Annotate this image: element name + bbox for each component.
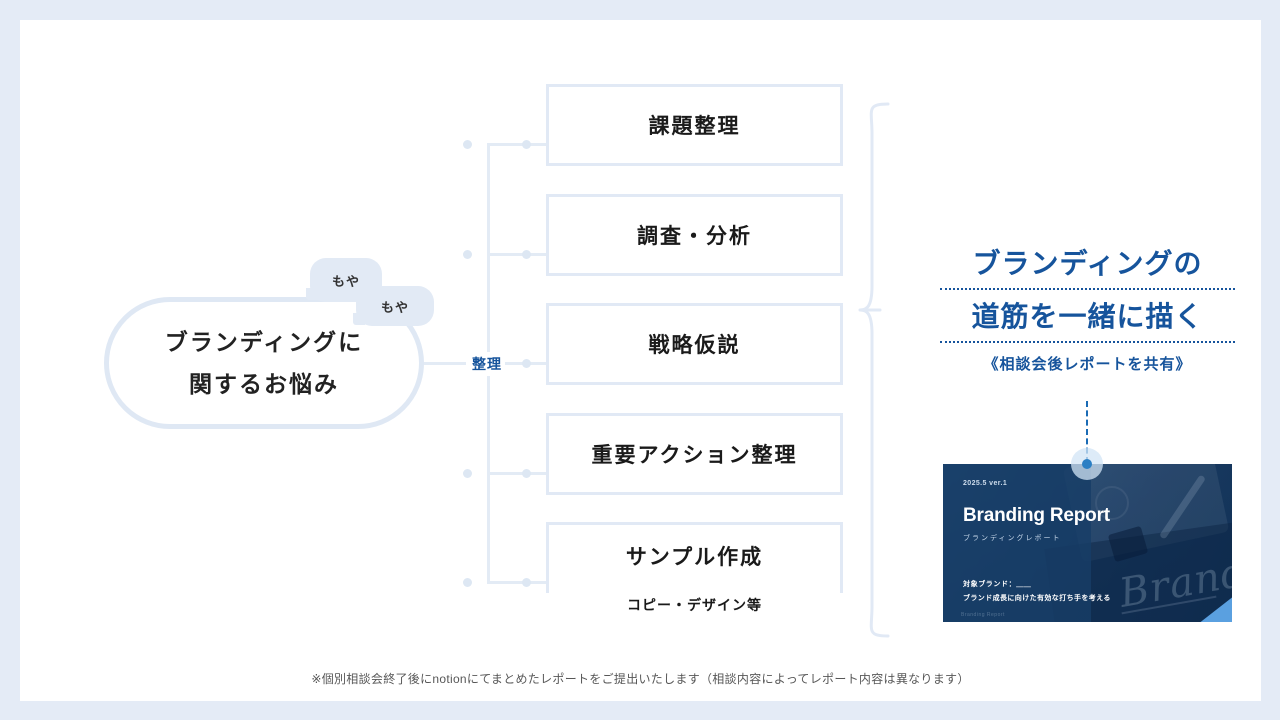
problem-line-1: ブランディングに (165, 321, 363, 363)
footnote-text: ※個別相談会終了後にnotionにてまとめたレポートをご提出いたします（相談内容… (20, 670, 1261, 687)
trunk-node-dot-1 (463, 140, 472, 149)
trunk-node-dot-2 (463, 250, 472, 259)
connector-label-seiri: 整理 (469, 352, 505, 376)
step-box-3-title: 戦略仮説 (649, 329, 741, 359)
step-box-5[interactable]: サンプル作成 (546, 522, 843, 604)
outcome-headline: ブランディングの 道筋を一緒に描く 《相談会後レポートを共有》 (940, 242, 1235, 374)
report-card-footer: Branding Report (961, 612, 1005, 618)
step-box-1-title: 課題整理 (649, 110, 741, 140)
moya-bubble-2-label: もや (381, 297, 409, 316)
box-node-dot-3 (522, 359, 531, 368)
problem-line-2: 関するお悩み (189, 363, 339, 405)
step-box-3[interactable]: 戦略仮説 (546, 303, 843, 385)
report-subtitle: ブランディングレポート (963, 533, 1232, 543)
box-node-dot-1 (522, 140, 531, 149)
box-node-dot-2 (522, 250, 531, 259)
step-box-4[interactable]: 重要アクション整理 (546, 413, 843, 495)
box-node-dot-5 (522, 578, 531, 587)
outcome-headline-line-1: ブランディングの (940, 242, 1235, 290)
step-box-2-title: 調査・分析 (637, 220, 752, 250)
report-card-thumbnail[interactable]: Brand 2025.5 ver.1 Branding Report ブランディ… (943, 464, 1232, 622)
bubble-tail-icon (353, 313, 365, 325)
report-brand-line: 対象ブランド：＿＿ (963, 579, 1031, 589)
bubble-tail-icon (306, 288, 318, 300)
step-box-5-subtitle: コピー・デザイン等 (546, 593, 843, 617)
report-tagline: ブランド成長に向けた有効な打ち手を考える (963, 593, 1111, 603)
branch-line-5 (487, 581, 550, 584)
outcome-headline-line-2: 道筋を一緒に描く (940, 295, 1235, 343)
curly-brace-icon (858, 100, 914, 640)
step-box-5-title: サンプル作成 (626, 541, 763, 571)
report-text-block: 2025.5 ver.1 Branding Report ブランディングレポート… (943, 464, 1232, 622)
branch-line-1 (487, 143, 550, 146)
report-date: 2025.5 ver.1 (963, 480, 1232, 487)
branch-line-4 (487, 472, 550, 475)
outcome-subheadline: 《相談会後レポートを共有》 (940, 353, 1235, 374)
trunk-node-dot-4 (463, 469, 472, 478)
step-box-2[interactable]: 調査・分析 (546, 194, 843, 276)
box-node-dot-4 (522, 469, 531, 478)
step-box-4-title: 重要アクション整理 (592, 439, 798, 469)
trunk-node-dot-5 (463, 578, 472, 587)
moya-bubble-2: もや (356, 286, 434, 326)
moya-bubble-1-label: もや (332, 271, 360, 290)
slide-canvas: ブランディングに 関するお悩み もや もや 整理 課題整理 (20, 20, 1261, 701)
report-title: Branding Report (963, 505, 1232, 527)
connector-dot (1082, 459, 1092, 469)
step-box-1[interactable]: 課題整理 (546, 84, 843, 166)
pill-connector-line (424, 362, 466, 365)
branch-line-2 (487, 253, 550, 256)
slide-stage: ブランディングに 関するお悩み もや もや 整理 課題整理 (0, 0, 1280, 720)
